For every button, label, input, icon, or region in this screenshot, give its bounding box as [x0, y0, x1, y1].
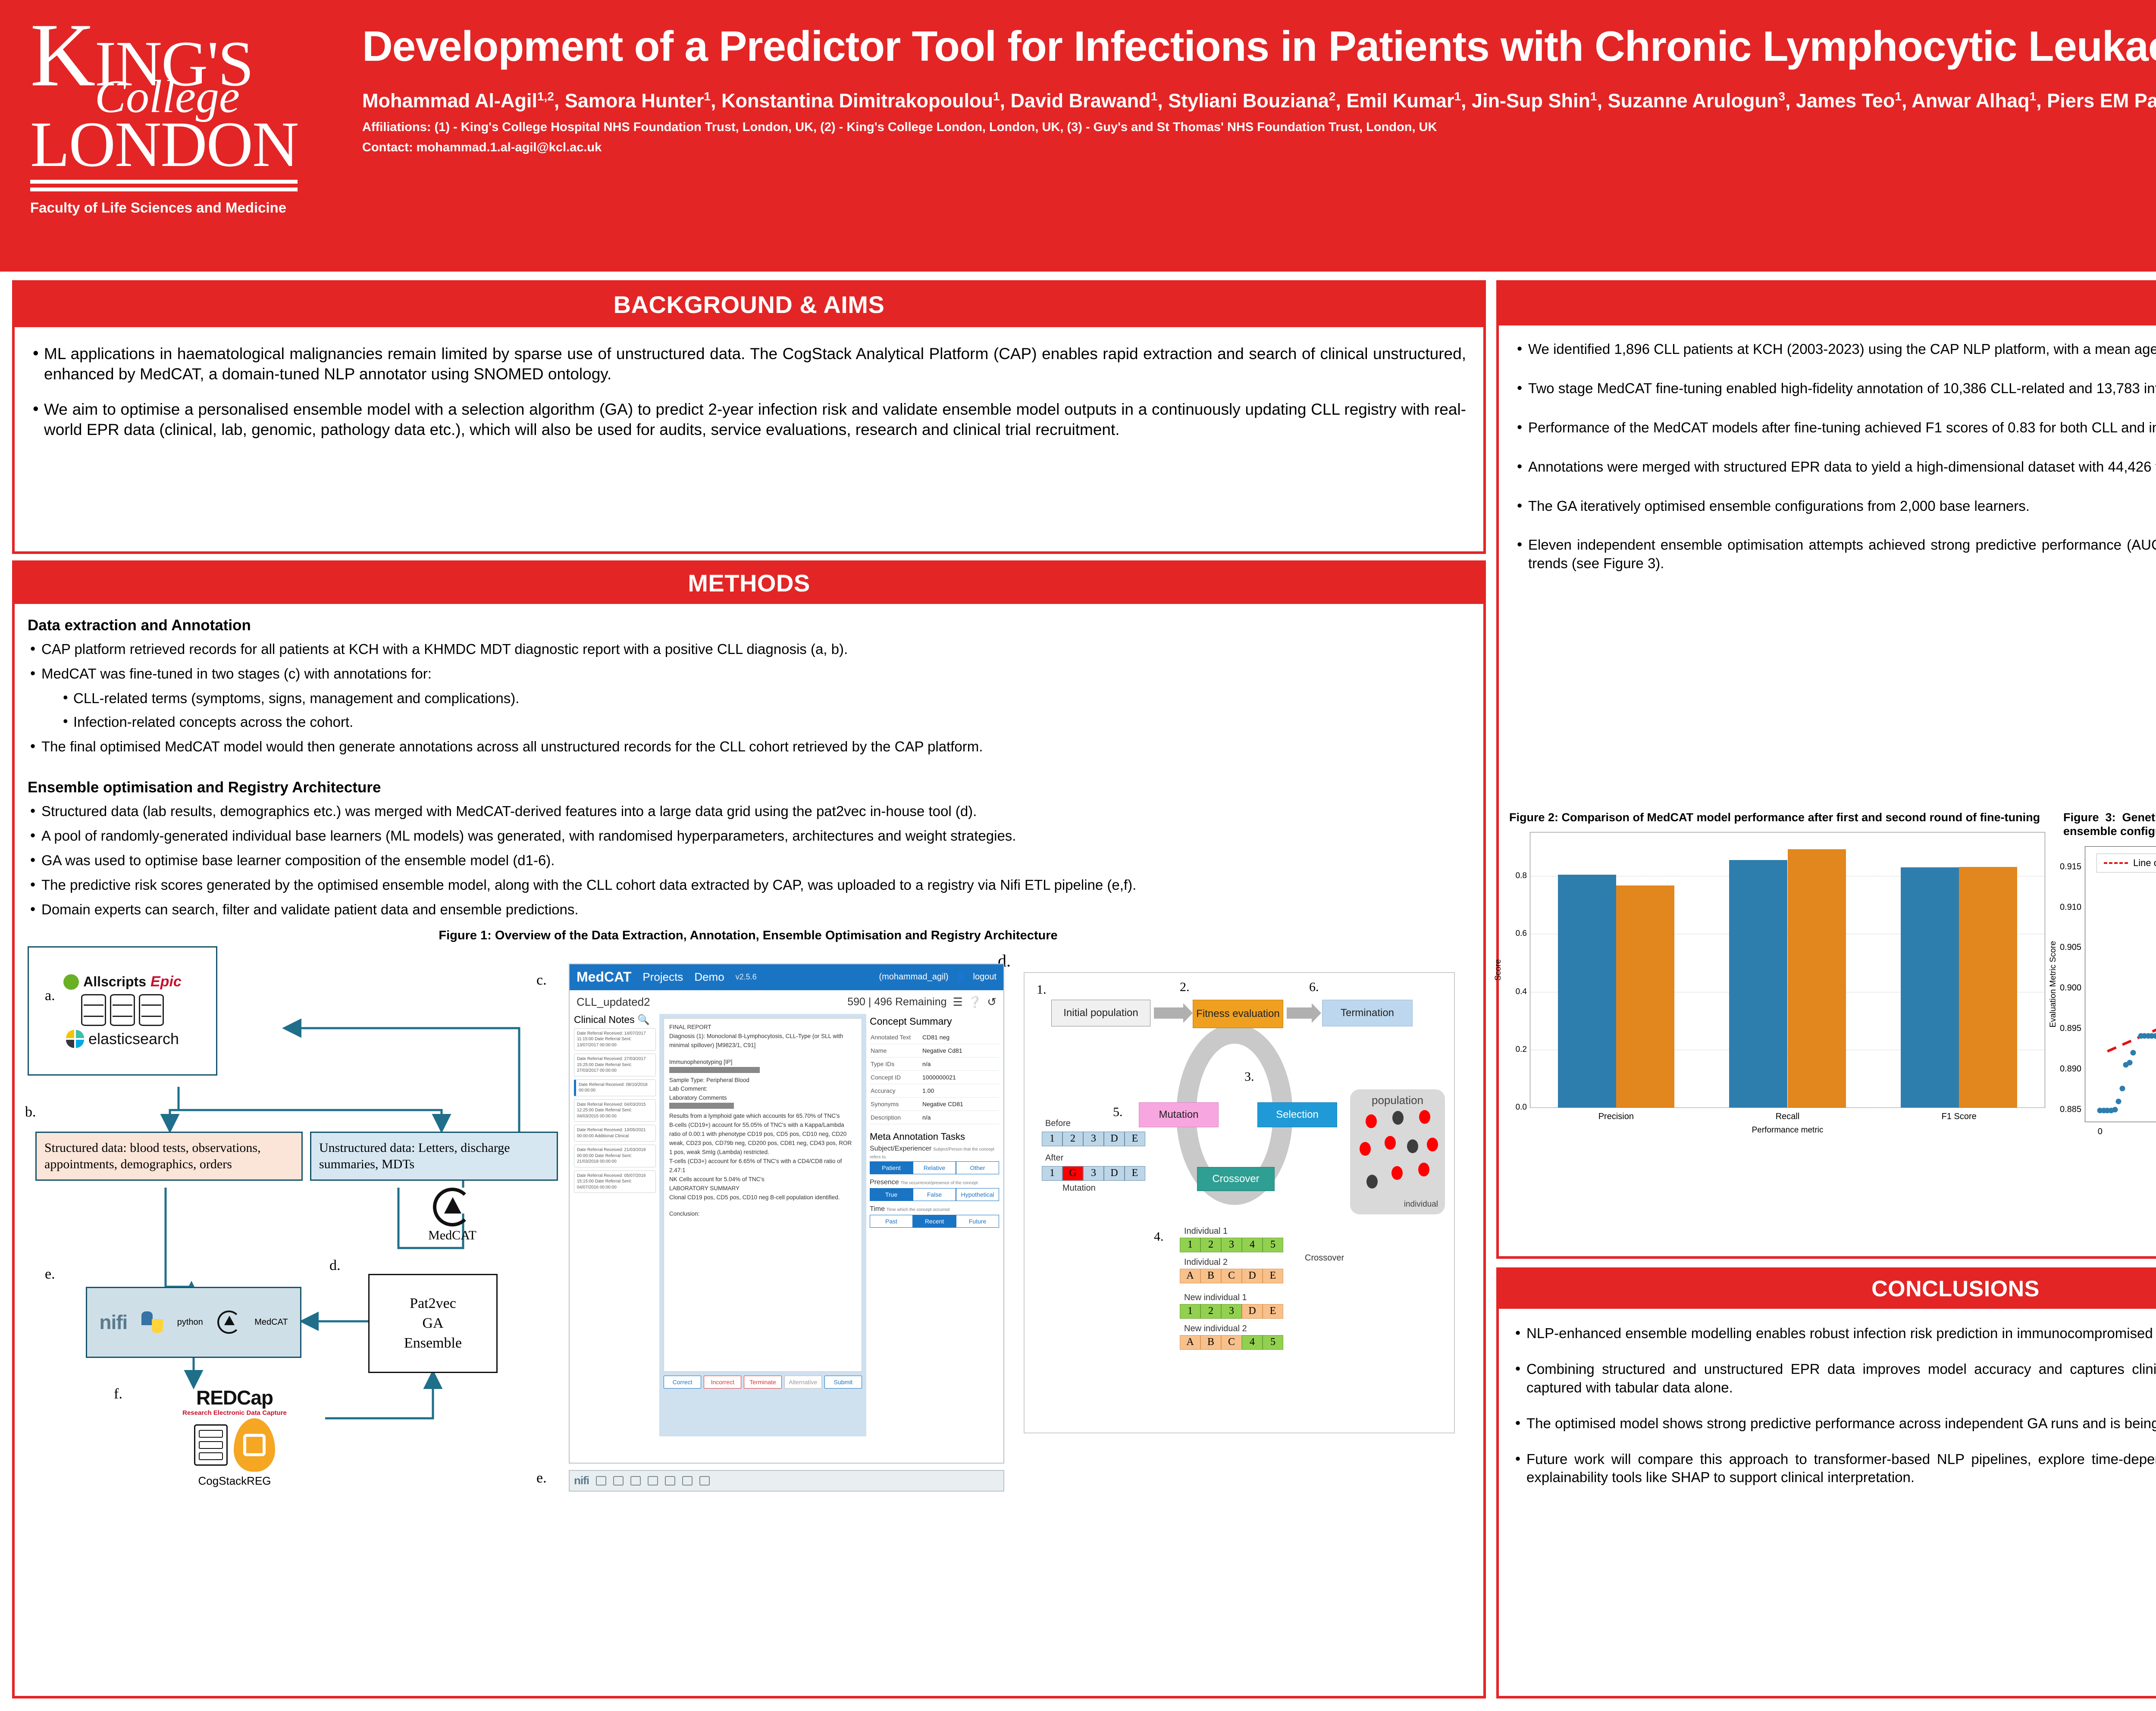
table-row: Type IDsn/a	[870, 1057, 999, 1071]
list-item[interactable]: Date Referral Received: 04/03/2015 12:25…	[574, 1099, 656, 1122]
nifi-label: nifi	[99, 1311, 127, 1334]
python-label: python	[177, 1317, 203, 1327]
scatter-legend: Line of Best Fit	[2096, 854, 2156, 873]
conclusions-body: NLP-enhanced ensemble modelling enables …	[1499, 1309, 2156, 1487]
gridline	[1530, 1107, 2045, 1108]
mutation-before-chromosome: 1 2 3 D E	[1042, 1132, 1145, 1146]
list-item: Performance of the MedCAT models after f…	[1514, 419, 2156, 437]
list-item[interactable]: Date Referral Received: 13/05/2021 00:00…	[574, 1125, 656, 1142]
gene-cell: D	[1104, 1166, 1125, 1181]
gene-cell: 2	[1200, 1304, 1221, 1319]
segmented-control: True False Hypothetical	[870, 1188, 999, 1201]
nifi-toolbar-icon[interactable]	[648, 1476, 658, 1486]
list-item: Combining structured and unstructured EP…	[1513, 1360, 2156, 1397]
option-past[interactable]: Past	[870, 1215, 913, 1228]
clinical-notes-heading: Clinical Notes 🔍	[574, 1014, 656, 1026]
meta-task-label: Presence	[870, 1179, 899, 1186]
cogstackreg-label: CogStackREG	[144, 1474, 325, 1488]
affiliations-line: Affiliations: (1) - King's College Hospi…	[362, 120, 2156, 135]
gene-cell: C	[1221, 1269, 1242, 1283]
list-item: We aim to optimise a personalised ensemb…	[30, 399, 1466, 440]
medcat-notes-column: Clinical Notes 🔍 Date Referral Received:…	[574, 1014, 656, 1436]
ga-node-crossover: Crossover	[1197, 1167, 1275, 1191]
line-of-best-fit	[2085, 847, 2156, 1122]
bar	[1788, 849, 1846, 1108]
doc-line: Sample Type: Peripheral Blood	[669, 1076, 856, 1085]
nifi-toolbar-icon[interactable]	[613, 1476, 624, 1486]
data-point	[2116, 1098, 2122, 1104]
gene-cell: B	[1200, 1335, 1221, 1350]
y-axis-tick-label: 0.900	[2060, 983, 2081, 993]
nifi-toolbar-screenshot[interactable]: nifi	[569, 1470, 1004, 1492]
figure2-plot-area: Score Performance metric 0.00.20.40.60.8…	[1509, 832, 2044, 1108]
ga-population-box: population individual	[1350, 1089, 1445, 1214]
ga-step-3-label: 3.	[1244, 1070, 1254, 1084]
doc-line: Conclusion:	[669, 1210, 856, 1219]
nifi-toolbar-icon[interactable]	[630, 1476, 641, 1486]
gene-cell: E	[1125, 1166, 1145, 1181]
concept-key: Annotated Text	[871, 1034, 922, 1041]
y-axis-tick-label: 0.0	[1516, 1103, 1527, 1112]
segmented-control: Patient Relative Other	[870, 1161, 999, 1174]
list-item: Two stage MedCAT fine-tuning enabled hig…	[1514, 379, 2156, 398]
gene-cell: 2	[1200, 1238, 1221, 1252]
gene-cell: 3	[1221, 1238, 1242, 1252]
doc-line: Results from a lymphoid gate which accou…	[669, 1112, 856, 1121]
ga-node-fitness-evaluation: Fitness evaluation	[1193, 1000, 1283, 1028]
concept-value: n/a	[922, 1060, 931, 1067]
meta-task-hint: Time which the concept occurred	[887, 1207, 950, 1212]
figure1-label-a: a.	[45, 988, 55, 1004]
y-axis-tick-label: 0.4	[1516, 987, 1527, 997]
bar-chart: Score Performance metric 0.00.20.40.60.8…	[1530, 832, 2045, 1108]
medcat-columns: Clinical Notes 🔍 Date Referral Received:…	[570, 1014, 1003, 1436]
poster-header: KING'S College LONDON Faculty of Life Sc…	[0, 0, 2156, 272]
doc-line: Lab Comment:	[669, 1085, 856, 1094]
gene-cell: C	[1221, 1335, 1242, 1350]
data-point	[2153, 1033, 2156, 1038]
medcat-action-buttons: Correct Incorrect Terminate Alternative …	[664, 1376, 862, 1389]
bar	[1901, 867, 1959, 1107]
option-future[interactable]: Future	[956, 1215, 999, 1228]
data-point	[2119, 1085, 2125, 1091]
background-aims-panel: BACKGROUND & AIMS ML applications in hae…	[12, 280, 1486, 554]
ga-step-1-label: 1.	[1037, 982, 1047, 997]
table-row: Annotated TextCD81 neg	[870, 1031, 999, 1044]
redaction-block	[669, 1067, 760, 1073]
concept-key: Concept ID	[871, 1074, 922, 1081]
figure1-label-c-ui: c.	[536, 972, 547, 988]
search-icon[interactable]: 🔍	[637, 1014, 650, 1025]
figure1-label-e-nifi: e.	[536, 1470, 547, 1486]
list-item: The predictive risk scores generated by …	[28, 876, 1469, 895]
gene-cell: 2	[1062, 1132, 1083, 1146]
redcap-subtitle: Research Electronic Data Capture	[144, 1409, 325, 1417]
individual2-label: Individual 2	[1184, 1257, 1228, 1267]
ga-step-4-label: 4.	[1154, 1229, 1164, 1244]
figure1-caption: Figure 1: Overview of the Data Extractio…	[28, 929, 1469, 943]
ga-individual-label: individual	[1399, 1200, 1443, 1209]
kcl-logo: KING'S College LONDON Faculty of Life Sc…	[0, 0, 345, 220]
figure1-diagram: a. b. c. e. f. d. c. e. d. Allscripts Ep…	[28, 946, 1468, 1494]
doc-line: Laboratory Comments	[669, 1094, 856, 1103]
logo-london-word: LONDON	[30, 116, 298, 174]
ga-population-label: population	[1350, 1089, 1445, 1107]
doc-line: Diagnosis (1): Monoclonal B-Lymphocytosi…	[669, 1032, 856, 1050]
gene-cell: 4	[1242, 1335, 1263, 1350]
medcat-version: v2.5.6	[736, 973, 757, 982]
clinical-notes-label: Clinical Notes	[574, 1014, 635, 1025]
option-false[interactable]: False	[913, 1188, 956, 1201]
concept-value: n/a	[922, 1114, 931, 1121]
alternative-button[interactable]: Alternative	[784, 1376, 822, 1389]
help-icon[interactable]: ❔	[968, 995, 982, 1009]
gene-cell: 3	[1083, 1166, 1104, 1181]
meta-task-subject: Subject/Experiencer Subject/Person that …	[870, 1145, 999, 1174]
methods-heading: METHODS	[15, 563, 1483, 604]
list-item: CLL-related terms (symptoms, signs, mana…	[60, 689, 1469, 708]
bar	[1729, 860, 1787, 1107]
results-figures-row: Figure 2: Comparison of MedCAT model per…	[1509, 810, 2156, 1198]
server-icon	[194, 1424, 228, 1466]
mutation-before-label: Before	[1045, 1119, 1071, 1129]
medcat-remaining-count: 590 | 496 Remaining	[847, 996, 946, 1008]
medcat-project-bar: CLL_updated2 590 | 496 Remaining ☰ ❔ ↺	[570, 990, 1003, 1014]
meta-task-label: Time	[870, 1205, 885, 1213]
logo-rules	[30, 180, 298, 195]
scatter-chart: Line of Best Fit Evaluation Metric Score…	[2085, 846, 2156, 1122]
list-item: MedCAT was fine-tuned in two stages (c) …	[28, 665, 1469, 732]
gene-cell: D	[1242, 1269, 1263, 1283]
gene-cell-mutated: G	[1062, 1166, 1083, 1181]
ga-arrow-init-to-fitness	[1154, 1007, 1184, 1019]
redcap-registry-block: REDCap Research Electronic Data Capture …	[144, 1386, 325, 1488]
x-axis-tick-label: Recall	[1776, 1112, 1800, 1122]
ga-arrow-fitness-to-termination	[1287, 1007, 1313, 1019]
y-axis-tick-label: 0.895	[2060, 1024, 2081, 1034]
option-true[interactable]: True	[870, 1188, 913, 1201]
concept-key: Name	[871, 1047, 922, 1054]
table-row: NameNegative Cd81	[870, 1044, 999, 1057]
gene-cell: 1	[1042, 1166, 1062, 1181]
nifi-logo-label: nifi	[574, 1474, 589, 1487]
doc-line: Clonal CD19 pos, CD5 pos, CD10 neg B-cel…	[669, 1193, 856, 1202]
meta-annotation-heading: Meta Annotation Tasks	[870, 1131, 999, 1142]
title-block: Development of a Predictor Tool for Infe…	[345, 0, 2156, 155]
correct-button[interactable]: Correct	[664, 1376, 701, 1389]
nifi-toolbar-icon[interactable]	[699, 1476, 710, 1486]
data-point	[2131, 1050, 2136, 1056]
figure1-label-b: b.	[25, 1104, 36, 1120]
table-row: Accuracy1.00	[870, 1084, 999, 1098]
elasticsearch-icon	[66, 1030, 84, 1048]
gene-cell: 1	[1042, 1132, 1062, 1146]
gene-cell: A	[1180, 1269, 1200, 1283]
data-point	[2127, 1060, 2132, 1065]
option-relative[interactable]: Relative	[913, 1161, 956, 1174]
new-individual2-label: New individual 2	[1184, 1324, 1247, 1334]
gene-cell: E	[1263, 1269, 1283, 1283]
nifi-toolbar-icon[interactable]	[596, 1476, 606, 1486]
incorrect-button[interactable]: Incorrect	[704, 1376, 741, 1389]
concept-key: Accuracy	[871, 1087, 922, 1094]
ga-step-5-label: 5.	[1113, 1105, 1123, 1120]
gene-cell: 1	[1180, 1238, 1200, 1252]
logo-k-letter: K	[30, 5, 95, 105]
data-point	[2112, 1107, 2118, 1112]
new-individual1-label: New individual 1	[1184, 1293, 1247, 1303]
cogstack-egg-icon	[234, 1418, 275, 1472]
option-patient[interactable]: Patient	[870, 1161, 913, 1174]
medcat-document-text[interactable]: FINAL REPORT Diagnosis (1): Monoclonal B…	[664, 1018, 862, 1372]
bar	[1558, 875, 1616, 1108]
nifi-toolbar-icon[interactable]	[665, 1476, 675, 1486]
list-item: Infection-related concepts across the co…	[60, 713, 1469, 732]
option-recent[interactable]: Recent	[913, 1215, 956, 1228]
table-row: SynonymsNegative CD81	[870, 1098, 999, 1111]
logout-link[interactable]: logout	[973, 972, 997, 982]
conclusions-panel: CONCLUSIONS NLP-enhanced ensemble modell…	[1496, 1267, 2156, 1698]
medcat-concept-column: Concept Summary Annotated TextCD81 neg N…	[870, 1014, 999, 1436]
methods-body: Data extraction and Annotation CAP platf…	[15, 604, 1483, 1494]
list-item: NLP-enhanced ensemble modelling enables …	[1513, 1324, 2156, 1343]
undo-icon[interactable]: ↺	[987, 995, 997, 1009]
submit-button[interactable]: Submit	[824, 1376, 862, 1389]
concept-value: CD81 neg	[922, 1034, 950, 1041]
list-item: The GA iteratively optimised ensemble co…	[1514, 497, 2156, 516]
option-other[interactable]: Other	[956, 1161, 999, 1174]
concept-value: Negative CD81	[922, 1101, 963, 1107]
meta-task-time: Time Time which the concept occurred Pas…	[870, 1205, 999, 1228]
list-item: Domain experts can search, filter and va…	[28, 901, 1469, 919]
y-axis-tick-label: 0.915	[2060, 862, 2081, 872]
mutation-after-chromosome: 1 G 3 D E	[1042, 1166, 1145, 1181]
meta-task-hint: The occurrence/presence of the concept	[900, 1181, 978, 1186]
x-axis-tick-label: F1 Score	[1942, 1112, 1977, 1122]
ga-step-2-label: 2.	[1180, 980, 1190, 995]
gene-cell: D	[1104, 1132, 1125, 1146]
list-item-text: MedCAT was fine-tuned in two stages (c) …	[41, 666, 432, 682]
y-axis-tick-label: 0.885	[2060, 1104, 2081, 1114]
medcat-label: MedCAT	[424, 1228, 480, 1243]
individual2-chromosome: A B C D E	[1180, 1269, 1283, 1283]
pat2vec-line-1: Pat2vec	[410, 1294, 456, 1314]
gene-cell: E	[1263, 1304, 1283, 1319]
individual1-chromosome: 1 2 3 4 5	[1180, 1238, 1283, 1252]
meta-task-label: Subject/Experiencer	[870, 1145, 931, 1152]
gene-cell: E	[1125, 1132, 1145, 1146]
medcat-user-area: (mohammad_agil) 👤 logout	[879, 972, 997, 982]
pat2vec-ga-ensemble-box: Pat2vec GA Ensemble	[368, 1274, 498, 1373]
x-axis-tick-label: Precision	[1598, 1112, 1634, 1122]
list-item: Future work will compare this approach t…	[1513, 1450, 2156, 1487]
methods-subheading-data-extraction: Data extraction and Annotation	[28, 617, 1469, 634]
background-aims-body: ML applications in haematological malign…	[15, 327, 1483, 459]
results-heading: RESULTS	[1499, 283, 2156, 325]
new-individual2-chromosome: A B C 4 5	[1180, 1335, 1283, 1350]
doc-line: FINAL REPORT	[669, 1023, 856, 1032]
ga-node-selection: Selection	[1257, 1102, 1337, 1127]
gene-cell: 3	[1083, 1132, 1104, 1146]
ga-node-termination: Termination	[1322, 1000, 1413, 1026]
gene-cell: 3	[1221, 1304, 1242, 1319]
concept-value: 1000000021	[922, 1074, 956, 1081]
doc-line: B-cells (CD19+) account for 55.05% of TN…	[669, 1121, 856, 1157]
bar-chart-x-axis-title: Performance metric	[1752, 1126, 1824, 1135]
segmented-control: Past Recent Future	[870, 1215, 999, 1228]
results-body: We identified 1,896 CLL patients at KCH …	[1499, 325, 2156, 573]
doc-line: Immunophenotyping [IP]	[669, 1058, 856, 1067]
conclusions-bullet-list: NLP-enhanced ensemble modelling enables …	[1513, 1324, 2156, 1487]
medcat-nav-demo[interactable]: Demo	[694, 970, 724, 984]
option-hypothetical[interactable]: Hypothetical	[956, 1188, 999, 1201]
medcat-cat-icon	[433, 1188, 472, 1226]
ga-node-mutation: Mutation	[1139, 1102, 1219, 1127]
list-icon[interactable]: ☰	[953, 995, 963, 1009]
nifi-toolbar-icon[interactable]	[682, 1476, 693, 1486]
gene-cell: 5	[1263, 1238, 1283, 1252]
figure3-block: Figure 3: Genetic algorithm fitness conv…	[2063, 810, 2156, 1122]
mutation-after-label: After	[1045, 1153, 1063, 1163]
y-axis-tick-label: 0.910	[2060, 902, 2081, 912]
y-axis-tick-label: 0.6	[1516, 929, 1527, 938]
genetic-algorithm-diagram: 1. 2. 6. 3. 5. 4. Initial population Fit…	[1024, 972, 1455, 1433]
database-cylinders-icon	[81, 994, 164, 1026]
gene-cell: 4	[1242, 1238, 1263, 1252]
y-axis-tick-label: 0.905	[2060, 943, 2081, 953]
user-icon: 👤	[956, 972, 966, 982]
medcat-top-bar: MedCAT Projects Demo v2.5.6 (mohammad_ag…	[570, 964, 1003, 990]
gene-cell: 5	[1263, 1335, 1283, 1350]
nifi-pipeline-box: nifi python MedCAT	[86, 1287, 301, 1358]
medcat-username: (mohammad_agil)	[879, 972, 948, 982]
list-item: Annotations were merged with structured …	[1514, 458, 2156, 476]
y-axis-tick-label: 0.8	[1516, 871, 1527, 881]
background-bullet-list: ML applications in haematological malign…	[30, 344, 1466, 440]
figure2-caption: Figure 2: Comparison of MedCAT model per…	[1509, 810, 2044, 824]
figure1-label-f: f.	[114, 1386, 122, 1402]
list-item: GA was used to optimise base learner com…	[28, 851, 1469, 870]
mutation-caption: Mutation	[1062, 1183, 1096, 1193]
list-item: A pool of randomly-generated individual …	[28, 827, 1469, 845]
list-item: We identified 1,896 CLL patients at KCH …	[1514, 340, 2156, 359]
list-item[interactable]: Date Referral Received: 14/07/2017 11:15…	[574, 1028, 656, 1051]
page-title: Development of a Predictor Tool for Infe…	[362, 24, 2156, 69]
list-item: The optimised model shows strong predict…	[1513, 1414, 2156, 1433]
list-item[interactable]: Date Referral Received: 21/03/2018 00:00…	[574, 1145, 656, 1167]
concept-value: 1.00	[922, 1087, 934, 1094]
background-aims-heading: BACKGROUND & AIMS	[15, 283, 1483, 327]
medcat-brand: MedCAT	[577, 969, 631, 985]
pat2vec-line-3: Ensemble	[404, 1333, 462, 1353]
list-item: CAP platform retrieved records for all p…	[28, 640, 1469, 659]
list-item[interactable]: Date Referral Received: 05/07/2016 15:15…	[574, 1170, 656, 1193]
list-item[interactable]: Date Referral Received: 08/10/2018 00:00…	[574, 1079, 656, 1096]
scatter-y-axis-title: Evaluation Metric Score	[2049, 941, 2058, 1027]
table-row: Descriptionn/a	[870, 1111, 999, 1124]
registry-icons	[144, 1418, 325, 1472]
gene-cell: D	[1242, 1304, 1263, 1319]
figure2-block: Figure 2: Comparison of MedCAT model per…	[1509, 810, 2044, 1108]
individual1-label: Individual 1	[1184, 1226, 1228, 1236]
concept-key: Synonyms	[871, 1101, 922, 1107]
table-row: Concept ID1000000021	[870, 1071, 999, 1084]
figure1-label-e: e.	[45, 1266, 55, 1282]
redaction-block	[669, 1103, 734, 1109]
crossover-caption: Crossover	[1305, 1253, 1344, 1263]
medcat-nav-projects[interactable]: Projects	[642, 970, 683, 984]
python-icon	[141, 1311, 163, 1333]
methods-sub-bullet-list: CLL-related terms (symptoms, signs, mana…	[60, 689, 1469, 732]
doc-line: LABORATORY SUMMARY	[669, 1184, 856, 1193]
y-axis-tick-label: 0.2	[1516, 1045, 1527, 1054]
concept-summary-heading: Concept Summary	[870, 1016, 999, 1027]
x-axis-tick-label: 0	[2098, 1127, 2103, 1137]
medcat-logo-block: MedCAT	[424, 1188, 480, 1243]
concept-key: Type IDs	[871, 1060, 922, 1067]
bar-chart-y-axis-title: Score	[1494, 960, 1503, 981]
figure3-caption: Figure 3: Genetic algorithm fitness conv…	[2063, 810, 2156, 838]
unstructured-data-box: Unstructured data: Letters, discharge su…	[310, 1132, 558, 1181]
pat2vec-line-2: GA	[422, 1314, 443, 1333]
methods-subheading-ensemble: Ensemble optimisation and Registry Archi…	[28, 779, 1469, 796]
medcat-annotator-screenshot[interactable]: MedCAT Projects Demo v2.5.6 (mohammad_ag…	[569, 963, 1004, 1464]
methods-bullet-list-2: Structured data (lab results, demographi…	[28, 802, 1469, 919]
medcat-project-name: CLL_updated2	[577, 995, 650, 1009]
concept-key: Description	[871, 1114, 922, 1121]
author-list: Mohammad Al-Agil1,2, Samora Hunter1, Kon…	[362, 89, 2156, 113]
y-axis-tick-label: 0.890	[2060, 1064, 2081, 1074]
results-bullet-list: We identified 1,896 CLL patients at KCH …	[1514, 340, 2156, 573]
concept-value: Negative Cd81	[922, 1047, 962, 1054]
list-item: Eleven independent ensemble optimisation…	[1514, 536, 2156, 573]
ga-node-initial-population: Initial population	[1051, 1000, 1150, 1026]
methods-panel: METHODS Data extraction and Annotation C…	[12, 560, 1486, 1698]
gene-cell: B	[1200, 1269, 1221, 1283]
figure1-label-d-box: d.	[329, 1257, 341, 1274]
list-item: The final optimised MedCAT model would t…	[28, 738, 1469, 756]
meta-task-presence: Presence The occurrence/presence of the …	[870, 1179, 999, 1201]
list-item: Structured data (lab results, demographi…	[28, 802, 1469, 821]
contact-line: Contact: mohammad.1.al-agil@kcl.ac.uk	[362, 141, 2156, 155]
ga-step-6-label: 6.	[1309, 980, 1319, 995]
bar	[1616, 885, 1674, 1108]
doc-line: T-cells (CD3+) account for 6.65% of TNC'…	[669, 1157, 856, 1175]
gene-cell: A	[1180, 1335, 1200, 1350]
conclusions-heading: CONCLUSIONS	[1499, 1270, 2156, 1309]
list-item: ML applications in haematological malign…	[30, 344, 1466, 385]
doc-line: NK Cells account for 5.04% of TNC's	[669, 1175, 856, 1184]
medcat-label-small: MedCAT	[254, 1317, 288, 1327]
medcat-cat-icon-small	[217, 1311, 241, 1334]
redcap-label: REDCap	[144, 1386, 325, 1409]
list-item[interactable]: Date Referral Received: 27/03/2017 15:25…	[574, 1054, 656, 1076]
structured-data-box: Structured data: blood tests, observatio…	[35, 1132, 303, 1181]
gene-cell: 1	[1180, 1304, 1200, 1319]
legend-dash-icon	[2104, 862, 2128, 864]
medcat-document-column: FINAL REPORT Diagnosis (1): Monoclonal B…	[659, 1014, 866, 1436]
legend-label: Line of Best Fit	[2133, 857, 2156, 869]
figure3-plot-area: Line of Best Fit Evaluation Metric Score…	[2063, 846, 2156, 1122]
terminate-button[interactable]: Terminate	[744, 1376, 781, 1389]
logo-faculty-line: Faculty of Life Sciences and Medicine	[30, 200, 286, 216]
bar	[1959, 867, 2017, 1108]
methods-bullet-list-1: CAP platform retrieved records for all p…	[28, 640, 1469, 756]
new-individual1-chromosome: 1 2 3 D E	[1180, 1304, 1283, 1319]
